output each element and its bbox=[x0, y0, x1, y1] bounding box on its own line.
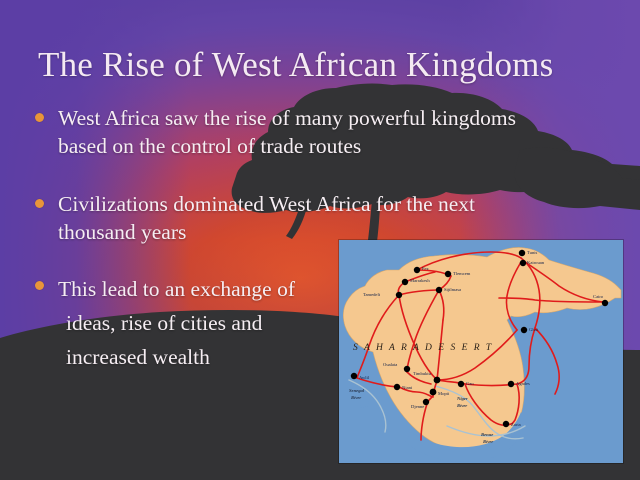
city-label-kairouan: Kairouan bbox=[527, 260, 545, 265]
bullet-text-2: Civilizations dominated West Africa for … bbox=[58, 190, 610, 246]
city-dot-sijilmasa bbox=[436, 287, 442, 293]
city-label-djenne: Djenne bbox=[411, 404, 424, 409]
city-dot-awlil bbox=[351, 373, 357, 379]
bullet-text-1: West Africa saw the rise of many powerfu… bbox=[58, 104, 610, 160]
slide-title: The Rise of West African Kingdoms bbox=[38, 44, 618, 86]
city-label-zaria: Zaria bbox=[511, 422, 521, 427]
city-label-oualata: Oualata bbox=[383, 362, 397, 367]
city-label-tlemcem: Tlemcem bbox=[453, 271, 471, 276]
city-dot-tamedelt bbox=[396, 292, 402, 298]
city-dot-agades bbox=[508, 381, 514, 387]
map-sahara-desert-label: S A H A R A D E S E R T bbox=[353, 343, 493, 353]
city-label-awlil: Awlil bbox=[359, 375, 370, 380]
city-dot-timbuktu bbox=[434, 377, 441, 384]
city-dot-gao bbox=[458, 381, 464, 387]
bullet-marker-icon bbox=[35, 199, 44, 208]
map-graphic: S A H A R A D E S E R T bbox=[339, 240, 623, 463]
river-label-senegal-2: River bbox=[351, 395, 361, 400]
presentation-slide: The Rise of West African Kingdoms West A… bbox=[0, 0, 640, 480]
city-label-marrakesh: Marrakesh bbox=[410, 278, 430, 283]
city-dot-oualata bbox=[404, 366, 410, 372]
city-dot-zaria bbox=[503, 421, 509, 427]
bullet-1-line-1: West Africa saw the rise of many powerfu… bbox=[58, 106, 516, 130]
city-label-niani: Niani bbox=[402, 385, 413, 390]
city-label-tamedelt: Tamedelt bbox=[363, 292, 381, 297]
river-label-benue-2: River bbox=[483, 439, 493, 444]
city-label-fez: Fez bbox=[422, 266, 429, 271]
bullet-marker-icon bbox=[35, 281, 44, 290]
river-label-niger-1: Niger bbox=[456, 396, 468, 401]
bullet-3-line-1: This lead to an exchange of bbox=[58, 277, 295, 301]
city-label-ghat: Ghat bbox=[529, 327, 539, 332]
river-label-senegal-1: Senegal bbox=[349, 388, 365, 393]
city-dot-tlemcem bbox=[445, 271, 451, 277]
city-label-gao: Gao bbox=[466, 381, 474, 386]
city-label-mopti: Mopti bbox=[438, 391, 450, 396]
city-dot-mopti bbox=[430, 389, 437, 396]
trans-saharan-trade-routes-map[interactable]: S A H A R A D E S E R T bbox=[339, 240, 623, 463]
city-dot-tunis bbox=[519, 250, 525, 256]
city-dot-ghat bbox=[521, 327, 527, 333]
city-label-agades: Agades bbox=[516, 381, 530, 386]
river-label-niger-2: River bbox=[457, 403, 467, 408]
bullet-marker-icon bbox=[35, 113, 44, 122]
city-label-tunis: Tunis bbox=[527, 250, 538, 255]
city-label-timbuktu: Timbuktu bbox=[413, 371, 432, 376]
city-label-cairo: Cairo bbox=[593, 294, 604, 299]
city-dot-niani bbox=[394, 384, 400, 390]
bullet-2-line-2: thousand years bbox=[58, 220, 186, 244]
bullet-item-2: Civilizations dominated West Africa for … bbox=[30, 190, 610, 246]
city-dot-kairouan bbox=[520, 260, 526, 266]
bullet-2-line-1: Civilizations dominated West Africa for … bbox=[58, 192, 475, 216]
river-label-benue-1: Benue bbox=[480, 432, 493, 437]
city-dot-cairo bbox=[602, 300, 608, 306]
city-dot-fez bbox=[414, 267, 420, 273]
bullet-1-line-2: based on the control of trade routes bbox=[58, 134, 361, 158]
city-label-sijilmasa: Sijilmasa bbox=[444, 287, 461, 292]
city-dot-marrakesh bbox=[402, 279, 408, 285]
bullet-item-1: West Africa saw the rise of many powerfu… bbox=[30, 104, 610, 160]
